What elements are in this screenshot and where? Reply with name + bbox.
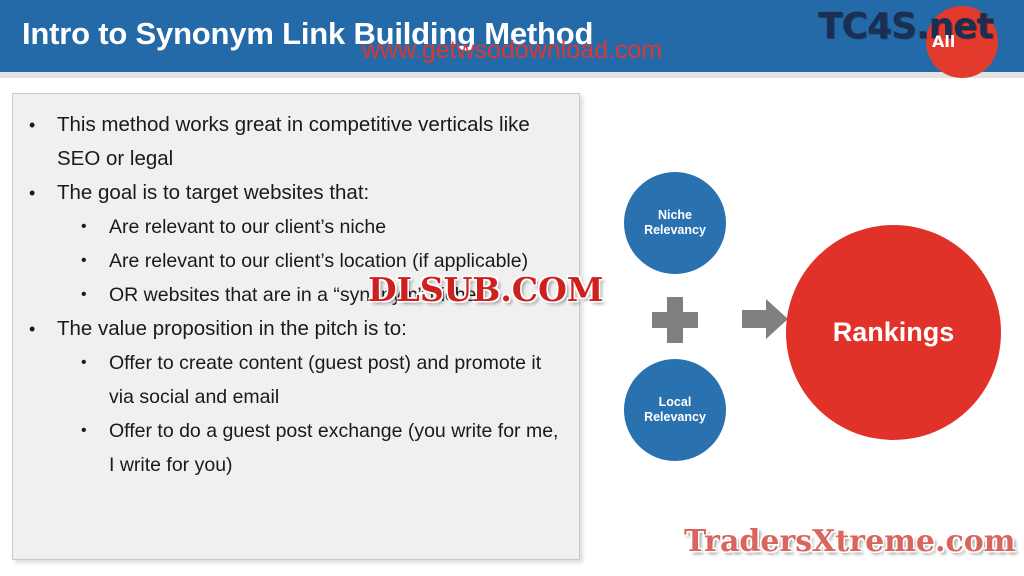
list-item-text: Offer to do a guest post exchange (you w… [109,414,565,482]
plus-icon [652,297,698,343]
bullet-marker-icon: • [29,312,57,346]
arrow-right-icon [742,297,788,341]
list-item-text: Are relevant to our client’s niche [109,210,565,244]
watermark-bottom: TradersXtreme.com [684,524,1015,559]
bullet-marker-icon: • [29,176,57,210]
watermark-top: www.getwsodownload.com [362,36,662,65]
diagram-node-niche-relevancy: Niche Relevancy [624,172,726,274]
list-item: • The goal is to target websites that: [23,176,565,210]
diagram-node-local-line2: Relevancy [644,410,706,425]
bullet-marker-icon: • [29,108,57,142]
diagram-node-niche-line1: Niche [644,208,706,223]
concept-diagram: Niche Relevancy Local Relevancy Rankings [600,85,1024,515]
diagram-node-local-relevancy: Local Relevancy [624,359,726,461]
bullet-marker-icon: • [81,244,109,278]
bullet-marker-icon: • [81,278,109,312]
diagram-node-rankings: Rankings [786,225,1001,440]
list-item: • The value proposition in the pitch is … [23,312,565,346]
list-item-text: The goal is to target websites that: [57,176,565,210]
content-panel: • This method works great in competitive… [12,93,580,560]
watermark-middle: DLSUB.COM [368,270,603,309]
diagram-node-rankings-label: Rankings [833,317,955,348]
diagram-node-local-line1: Local [644,395,706,410]
bullet-marker-icon: • [81,210,109,244]
list-item-text: The value proposition in the pitch is to… [57,312,565,346]
list-item-text: Offer to create content (guest post) and… [109,346,565,414]
list-item: • Offer to create content (guest post) a… [23,346,565,414]
diagram-node-niche-line2: Relevancy [644,223,706,238]
brand-logo-subtext: All [932,32,955,51]
list-item-text: This method works great in competitive v… [57,108,565,176]
brand-logo: TC4S.net All [818,2,1018,76]
list-item: • Are relevant to our client’s niche [23,210,565,244]
list-item: • Offer to do a guest post exchange (you… [23,414,565,482]
list-item: • This method works great in competitive… [23,108,565,176]
brand-logo-text: TC4S.net [818,6,1018,47]
bullet-marker-icon: • [81,414,109,448]
bullet-marker-icon: • [81,346,109,380]
